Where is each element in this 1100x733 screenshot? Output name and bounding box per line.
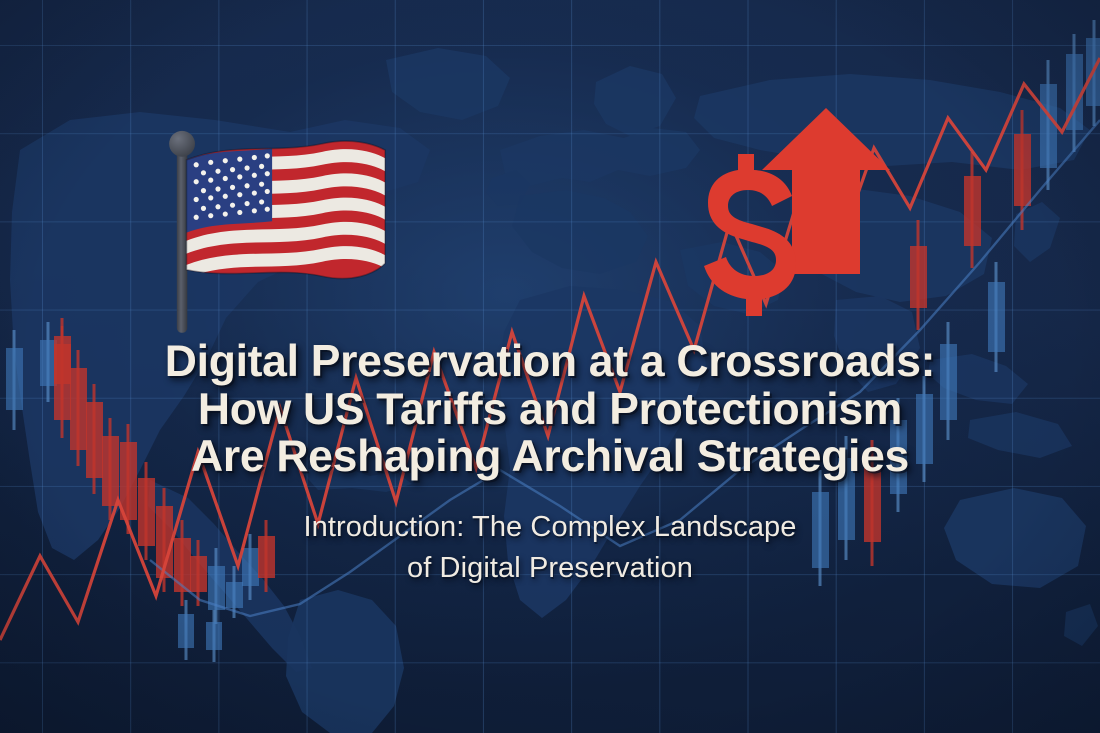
hero-text-block: Digital Preservation at a Crossroads: Ho…: [0, 338, 1100, 589]
subhead-line-1: Introduction: The Complex Landscape: [40, 507, 1060, 548]
us-flag-icon: [146, 126, 416, 336]
subhead-line-2: of Digital Preservation: [40, 548, 1060, 589]
page-subtitle: Introduction: The Complex Landscape of D…: [40, 507, 1060, 589]
page-title: Digital Preservation at a Crossroads: Ho…: [40, 338, 1060, 481]
headline-line-3: Are Reshaping Archival Strategies: [40, 433, 1060, 481]
headline-line-2: How US Tariffs and Protectionism: [40, 386, 1060, 434]
hero-banner: Digital Preservation at a Crossroads: Ho…: [0, 0, 1100, 733]
headline-line-1: Digital Preservation at a Crossroads:: [40, 338, 1060, 386]
dollar-up-arrow-icon: [690, 96, 900, 336]
